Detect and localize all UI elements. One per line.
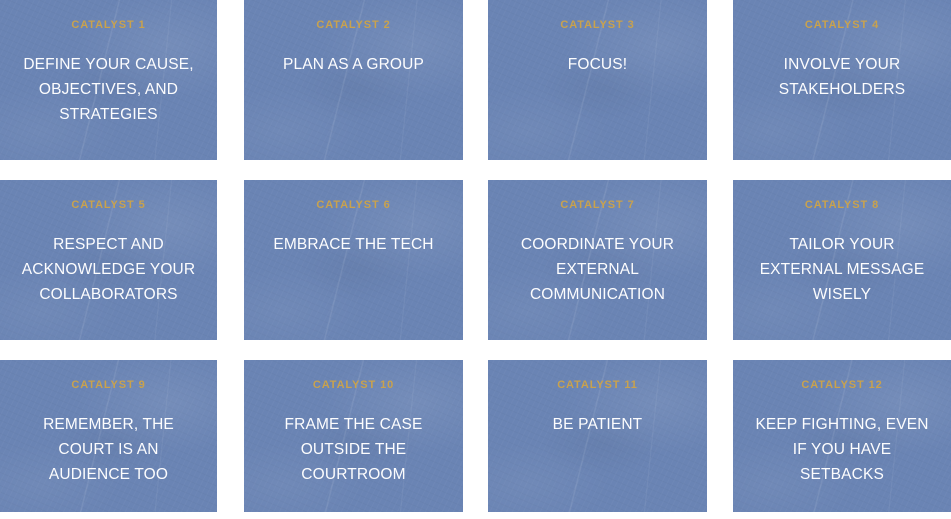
card-headline: RESPECT AND ACKNOWLEDGE YOUR COLLABORATO…	[12, 232, 205, 307]
card-headline: FOCUS!	[500, 52, 695, 77]
card-headline: EMBRACE THE TECH	[256, 232, 451, 257]
card-eyebrow-label: CATALYST 8	[745, 198, 939, 212]
card-eyebrow-label: CATALYST 6	[256, 198, 451, 212]
catalyst-card[interactable]: CATALYST 8TAILOR YOUR EXTERNAL MESSAGE W…	[733, 180, 951, 340]
card-eyebrow-label: CATALYST 7	[500, 198, 695, 212]
card-headline: DEFINE YOUR CAUSE, OBJECTIVES, AND STRAT…	[12, 52, 205, 127]
catalyst-card[interactable]: CATALYST 1DEFINE YOUR CAUSE, OBJECTIVES,…	[0, 0, 217, 160]
catalyst-card[interactable]: CATALYST 12KEEP FIGHTING, EVEN IF YOU HA…	[733, 360, 951, 512]
catalyst-card[interactable]: CATALYST 9REMEMBER, THE COURT IS AN AUDI…	[0, 360, 217, 512]
card-content: CATALYST 4INVOLVE YOUR STAKEHOLDERS	[733, 0, 951, 160]
card-eyebrow-label: CATALYST 9	[12, 378, 205, 392]
card-content: CATALYST 5RESPECT AND ACKNOWLEDGE YOUR C…	[0, 180, 217, 340]
card-eyebrow-label: CATALYST 3	[500, 18, 695, 32]
catalyst-card[interactable]: CATALYST 11BE PATIENT	[488, 360, 707, 512]
card-eyebrow-label: CATALYST 4	[745, 18, 939, 32]
card-content: CATALYST 9REMEMBER, THE COURT IS AN AUDI…	[0, 360, 217, 512]
card-eyebrow-label: CATALYST 1	[12, 18, 205, 32]
card-content: CATALYST 6EMBRACE THE TECH	[244, 180, 463, 340]
card-headline: TAILOR YOUR EXTERNAL MESSAGE WISELY	[745, 232, 939, 307]
card-headline: INVOLVE YOUR STAKEHOLDERS	[745, 52, 939, 102]
catalyst-card[interactable]: CATALYST 10FRAME THE CASE OUTSIDE THE CO…	[244, 360, 463, 512]
card-headline: REMEMBER, THE COURT IS AN AUDIENCE TOO	[12, 412, 205, 487]
card-content: CATALYST 2PLAN AS A GROUP	[244, 0, 463, 160]
card-eyebrow-label: CATALYST 5	[12, 198, 205, 212]
card-headline: COORDINATE YOUR EXTERNAL COMMUNICATION	[500, 232, 695, 307]
card-eyebrow-label: CATALYST 12	[745, 378, 939, 392]
card-content: CATALYST 7COORDINATE YOUR EXTERNAL COMMU…	[488, 180, 707, 340]
card-eyebrow-label: CATALYST 2	[256, 18, 451, 32]
card-headline: BE PATIENT	[500, 412, 695, 437]
card-content: CATALYST 11BE PATIENT	[488, 360, 707, 512]
card-content: CATALYST 8TAILOR YOUR EXTERNAL MESSAGE W…	[733, 180, 951, 340]
card-content: CATALYST 12KEEP FIGHTING, EVEN IF YOU HA…	[733, 360, 951, 512]
card-headline: PLAN AS A GROUP	[256, 52, 451, 77]
catalyst-card[interactable]: CATALYST 2PLAN AS A GROUP	[244, 0, 463, 160]
card-headline: FRAME THE CASE OUTSIDE THE COURTROOM	[256, 412, 451, 487]
catalyst-card[interactable]: CATALYST 3FOCUS!	[488, 0, 707, 160]
catalyst-card[interactable]: CATALYST 5RESPECT AND ACKNOWLEDGE YOUR C…	[0, 180, 217, 340]
card-content: CATALYST 1DEFINE YOUR CAUSE, OBJECTIVES,…	[0, 0, 217, 160]
card-headline: KEEP FIGHTING, EVEN IF YOU HAVE SETBACKS	[745, 412, 939, 487]
catalyst-card[interactable]: CATALYST 4INVOLVE YOUR STAKEHOLDERS	[733, 0, 951, 160]
catalyst-card-grid: CATALYST 1DEFINE YOUR CAUSE, OBJECTIVES,…	[0, 0, 951, 519]
catalyst-card[interactable]: CATALYST 6EMBRACE THE TECH	[244, 180, 463, 340]
card-content: CATALYST 3FOCUS!	[488, 0, 707, 160]
card-content: CATALYST 10FRAME THE CASE OUTSIDE THE CO…	[244, 360, 463, 512]
catalyst-card[interactable]: CATALYST 7COORDINATE YOUR EXTERNAL COMMU…	[488, 180, 707, 340]
card-eyebrow-label: CATALYST 11	[500, 378, 695, 392]
card-eyebrow-label: CATALYST 10	[256, 378, 451, 392]
